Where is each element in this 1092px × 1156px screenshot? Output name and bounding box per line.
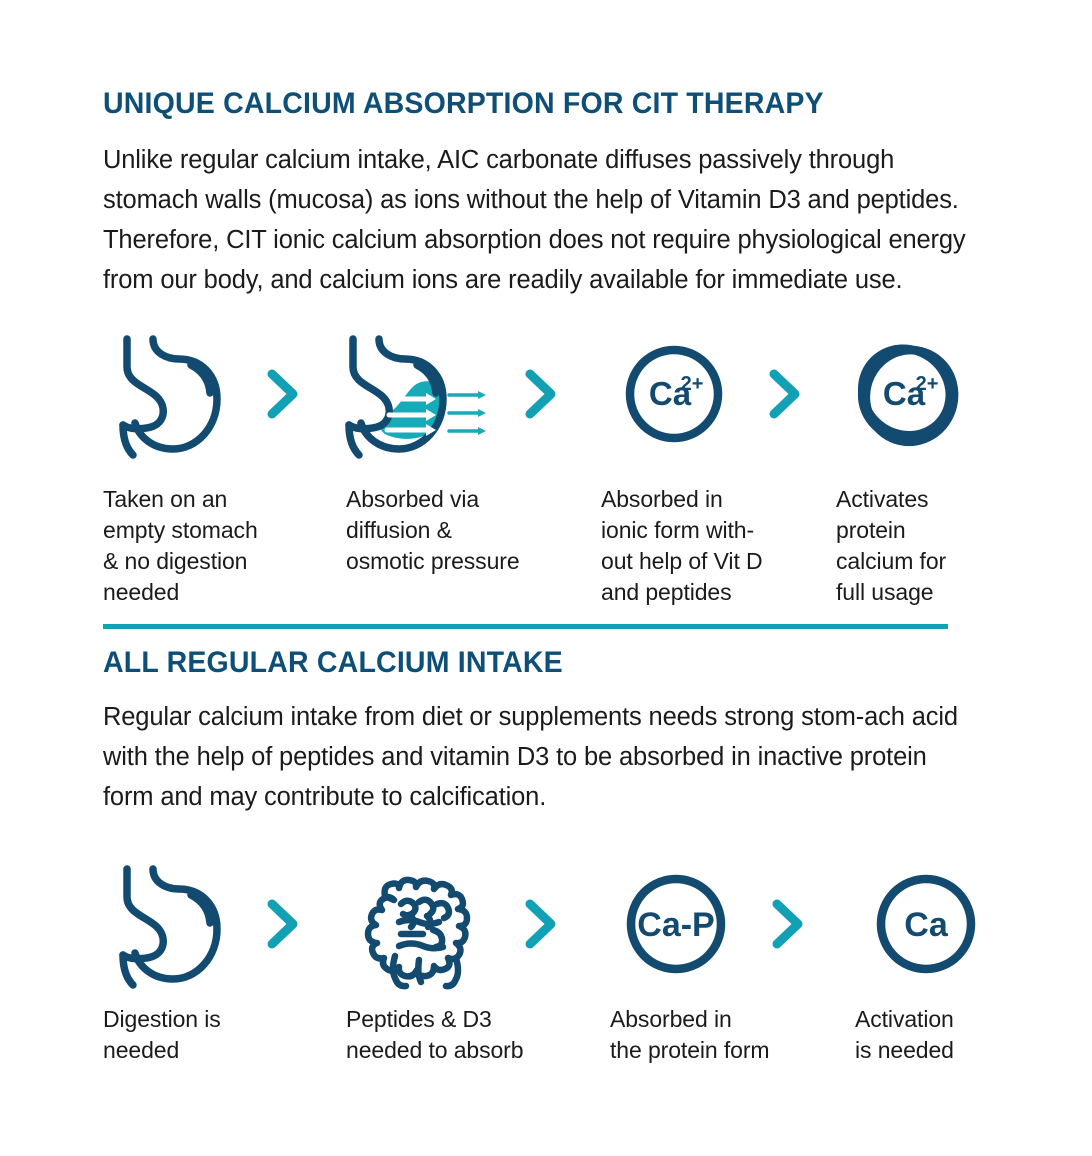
flow-step-4: Ca 2+ <box>833 324 983 464</box>
calcium-circle-icon: Ca <box>872 870 980 978</box>
flow-step-5 <box>103 849 253 999</box>
stomach-outline-icon <box>117 331 239 457</box>
flow-separator-2 <box>511 324 571 464</box>
flow-caption-2: Absorbed via diffusion & osmotic pressur… <box>346 484 556 577</box>
flow-step-2 <box>343 324 493 464</box>
flow-separator-3 <box>755 324 815 464</box>
intestines-icon <box>361 860 485 988</box>
flow-separator-1 <box>253 324 313 464</box>
section-body-regular-intake: Regular calcium intake from diet or supp… <box>103 697 969 817</box>
flow-separator-6 <box>758 849 818 999</box>
flow-caption-6: Peptides & D3 needed to absorb <box>346 1004 561 1066</box>
flow-row-regular-intake: Ca-P Ca <box>103 849 983 1004</box>
flow-caption-8: Activation is needed <box>855 1004 1015 1066</box>
calcium-ion-circle-icon: Ca 2+ <box>622 342 726 446</box>
chevron-right-icon <box>266 368 300 420</box>
chevron-right-icon <box>266 898 300 950</box>
chevron-right-icon <box>768 368 802 420</box>
flow-step-3: Ca 2+ <box>599 324 749 464</box>
stomach-diffusion-icon <box>343 331 493 457</box>
flow-separator-4 <box>253 849 313 999</box>
infographic-content: UNIQUE CALCIUM ABSORPTION FOR CIT THERAP… <box>103 0 969 1084</box>
flow-step-8: Ca <box>851 849 1001 999</box>
chevron-right-icon <box>524 368 558 420</box>
flow-caption-5: Digestion is needed <box>103 1004 288 1066</box>
flow-separator-5 <box>511 849 571 999</box>
calcium-ion-activated-rings-icon: Ca 2+ <box>844 330 972 458</box>
flow-caption-3: Absorbed in ionic form with- out help of… <box>601 484 806 608</box>
stomach-outline-icon <box>117 859 239 989</box>
section-heading-regular-intake: ALL REGULAR CALCIUM INTAKE <box>103 647 926 679</box>
infographic-page: UNIQUE CALCIUM ABSORPTION FOR CIT THERAP… <box>0 0 1092 1156</box>
flow-step-6 <box>348 849 498 999</box>
section-heading-cit-therapy: UNIQUE CALCIUM ABSORPTION FOR CIT THERAP… <box>103 88 926 120</box>
flow-step-1 <box>103 324 253 464</box>
chevron-right-icon <box>771 898 805 950</box>
calcium-ion-activated-superscript: 2+ <box>916 373 939 395</box>
flow-row-cit-therapy: Ca 2+ Ca 2+ <box>103 324 983 484</box>
calcium-phosphate-label: Ca-P <box>637 906 714 944</box>
calcium-phosphate-circle-icon: Ca-P <box>622 870 730 978</box>
section-body-cit-therapy: Unlike regular calcium intake, AIC carbo… <box>103 140 969 300</box>
flow-step-7: Ca-P <box>601 849 751 999</box>
flow-caption-4: Activates protein calcium for full usage <box>836 484 996 608</box>
calcium-label: Ca <box>904 906 949 944</box>
flow-caption-7: Absorbed in the protein form <box>610 1004 815 1066</box>
calcium-ion-superscript: 2+ <box>681 373 704 395</box>
captions-row-regular-intake: Digestion is needed Peptides & D3 needed… <box>103 1004 983 1084</box>
flow-caption-1: Taken on an empty stomach & no digestion… <box>103 484 288 608</box>
chevron-right-icon <box>524 898 558 950</box>
captions-row-cit-therapy: Taken on an empty stomach & no digestion… <box>103 484 983 624</box>
